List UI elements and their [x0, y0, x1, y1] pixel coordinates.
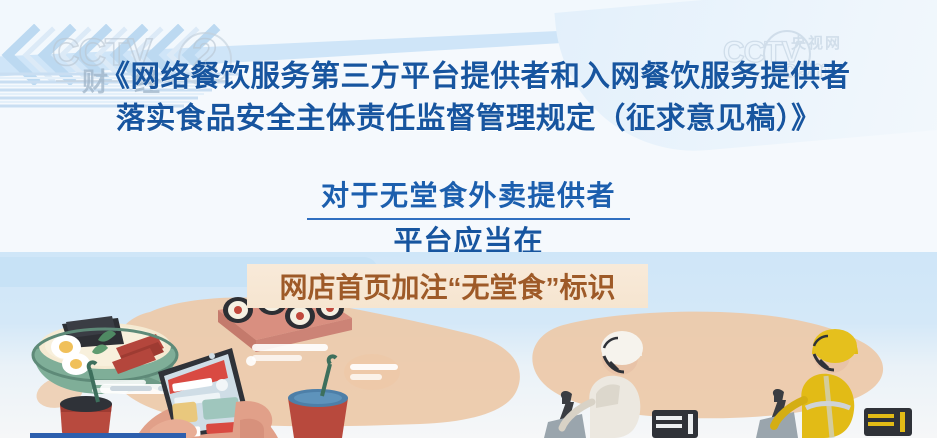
headline-line-1: 《网络餐饮服务第三方平台提供者和入网餐饮服务提供者: [0, 56, 937, 98]
headline: 《网络餐饮服务第三方平台提供者和入网餐饮服务提供者 落实食品安全主体责任监督管理…: [0, 56, 937, 140]
broadcast-graphic-stage: CCTV 2 财经 CCTV 央视网 com 《网络餐饮服务第三方平台提供者和入…: [0, 0, 937, 438]
highlight-banner: 网店首页加注“无堂食”标识: [247, 264, 648, 308]
subhead-underlined-wrapper: 对于无堂食外卖提供者: [0, 174, 937, 220]
headline-line-2: 落实食品安全主体责任监督管理规定（征求意见稿）》: [0, 98, 937, 140]
cctv-com-cn-text: 央视网: [791, 32, 842, 53]
highlight-banner-text: 网店首页加注“无堂食”标识: [279, 266, 615, 306]
subhead-line-1: 对于无堂食外卖提供者: [307, 174, 630, 220]
bottom-ticker-bar: [30, 433, 186, 438]
